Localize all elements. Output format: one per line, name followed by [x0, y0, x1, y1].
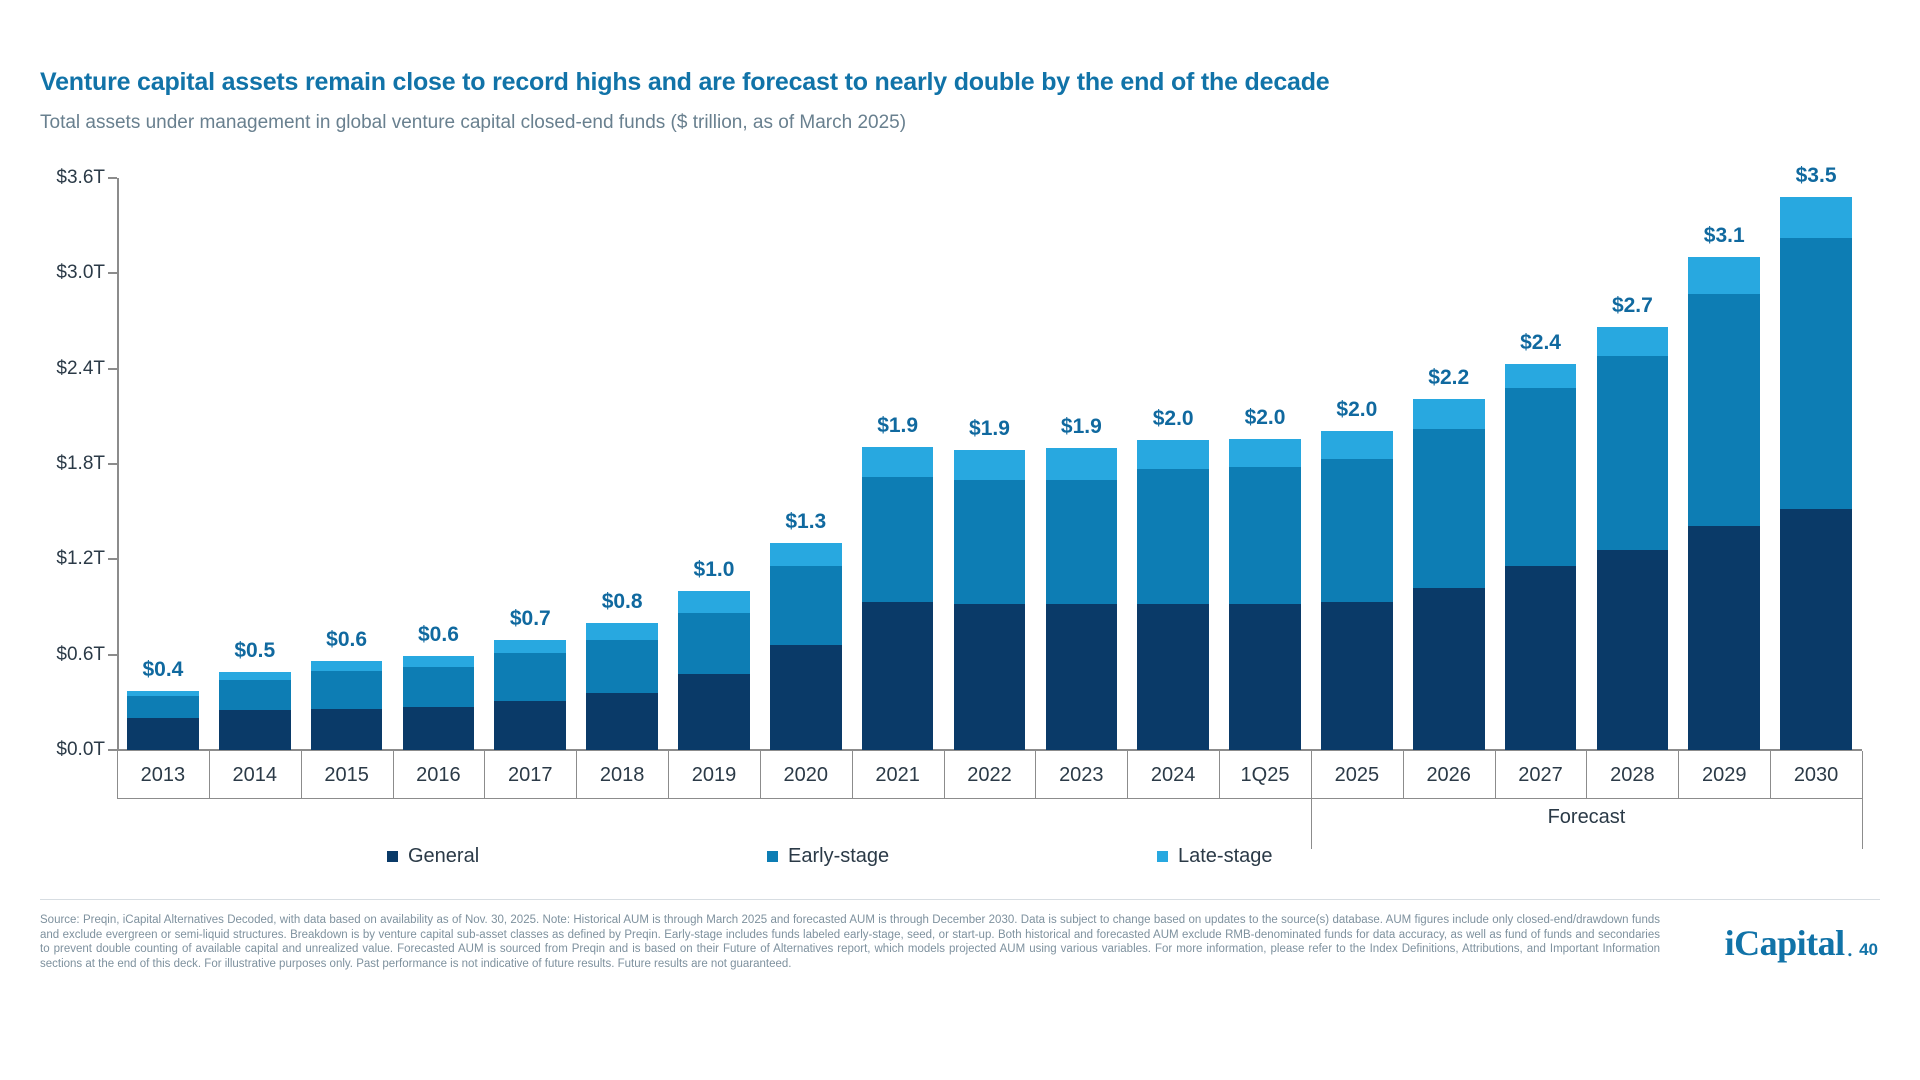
brand-dot: .	[1847, 935, 1854, 961]
category-separator	[209, 751, 210, 799]
bar-segment-late-stage[interactable]	[494, 640, 566, 653]
bar-segment-general[interactable]	[1137, 604, 1209, 750]
x-axis-category-2019: 2019	[668, 751, 760, 799]
category-separator	[1311, 751, 1312, 799]
bar-segment-late-stage[interactable]	[311, 661, 383, 671]
y-axis-tick-mark	[108, 177, 117, 179]
stacked-bar[interactable]	[1413, 399, 1485, 750]
category-separator	[393, 751, 394, 799]
x-axis-category-2018: 2018	[576, 751, 668, 799]
forecast-divider-right	[1862, 799, 1863, 849]
stacked-bar[interactable]	[1229, 439, 1301, 750]
bar-segment-general[interactable]	[494, 701, 566, 750]
legend-swatch-icon	[1157, 851, 1168, 862]
category-separator	[117, 751, 118, 799]
bar-series-area: $0.4$0.5$0.6$0.6$0.7$0.8$1.0$1.3$1.9$1.9…	[117, 178, 1862, 750]
category-separator	[1127, 751, 1128, 799]
category-separator	[1678, 751, 1679, 799]
legend-swatch-icon	[767, 851, 778, 862]
bar-segment-late-stage[interactable]	[1597, 327, 1669, 356]
bar-segment-general[interactable]	[770, 645, 842, 750]
y-axis-tick-mark	[108, 749, 117, 751]
x-axis-category-1Q25: 1Q25	[1219, 751, 1311, 799]
stacked-bar[interactable]	[1321, 431, 1393, 750]
bar-segment-early-stage[interactable]	[219, 680, 291, 710]
stacked-bar[interactable]	[862, 447, 934, 750]
page-title: Venture capital assets remain close to r…	[40, 68, 1330, 97]
bar-column[interactable]: $2.0	[1229, 178, 1301, 750]
x-axis-category-2020: 2020	[760, 751, 852, 799]
bar-segment-general[interactable]	[1413, 588, 1485, 750]
stacked-bar[interactable]	[586, 623, 658, 750]
category-separator	[1862, 751, 1863, 799]
bar-segment-early-stage[interactable]	[1137, 469, 1209, 604]
stacked-bar[interactable]	[494, 640, 566, 750]
stacked-bar[interactable]	[1597, 327, 1669, 750]
x-axis-category-2015: 2015	[301, 751, 393, 799]
forecast-label: Forecast	[1548, 806, 1626, 829]
bar-segment-early-stage[interactable]	[311, 671, 383, 709]
legend-item-late-stage[interactable]: Late-stage	[1157, 845, 1273, 868]
page-number: 40	[1859, 941, 1878, 961]
category-separator	[484, 751, 485, 799]
bar-segment-early-stage[interactable]	[1229, 467, 1301, 604]
bar-column[interactable]: $3.1	[1688, 178, 1760, 750]
stacked-bar[interactable]	[678, 591, 750, 750]
x-axis-category-2016: 2016	[393, 751, 485, 799]
bar-column[interactable]: $1.9	[862, 178, 934, 750]
stacked-bar[interactable]	[954, 450, 1026, 750]
category-separator	[1035, 751, 1036, 799]
bar-segment-early-stage[interactable]	[1321, 459, 1393, 602]
bar-segment-early-stage[interactable]	[494, 653, 566, 701]
bar-value-label: $0.6	[418, 623, 459, 647]
category-separator	[760, 751, 761, 799]
stacked-bar[interactable]	[1688, 257, 1760, 750]
y-axis-tick-mark	[108, 368, 117, 370]
bar-segment-late-stage[interactable]	[1505, 364, 1577, 388]
stacked-bar[interactable]	[1505, 364, 1577, 750]
category-separator	[1495, 751, 1496, 799]
legend-item-early-stage[interactable]: Early-stage	[767, 845, 889, 868]
bar-segment-early-stage[interactable]	[1413, 429, 1485, 588]
bar-segment-early-stage[interactable]	[954, 480, 1026, 604]
forecast-divider-left	[1311, 799, 1312, 849]
bar-segment-general[interactable]	[586, 693, 658, 750]
bar-segment-general[interactable]	[1229, 604, 1301, 750]
bar-value-label: $1.9	[877, 414, 918, 438]
bar-segment-late-stage[interactable]	[678, 591, 750, 613]
x-axis-category-2014: 2014	[209, 751, 301, 799]
bar-column[interactable]: $2.7	[1597, 178, 1669, 750]
bar-value-label: $0.6	[326, 628, 367, 652]
bar-segment-general[interactable]	[1046, 604, 1118, 750]
stacked-bar[interactable]	[311, 661, 383, 750]
bar-segment-late-stage[interactable]	[219, 672, 291, 680]
bar-segment-late-stage[interactable]	[1413, 399, 1485, 429]
source-note: Source: Preqin, iCapital Alternatives De…	[40, 913, 1660, 971]
bar-segment-early-stage[interactable]	[678, 613, 750, 673]
bar-segment-general[interactable]	[954, 604, 1026, 750]
bar-segment-early-stage[interactable]	[770, 566, 842, 645]
x-axis-category-2017: 2017	[484, 751, 576, 799]
bar-column[interactable]: $1.9	[954, 178, 1026, 750]
bar-value-label: $1.9	[969, 417, 1010, 441]
bar-segment-early-stage[interactable]	[127, 696, 199, 718]
y-axis-tick-mark	[108, 272, 117, 274]
bar-column[interactable]: $2.0	[1321, 178, 1393, 750]
bar-segment-late-stage[interactable]	[1137, 440, 1209, 469]
y-axis-tick-mark	[108, 654, 117, 656]
bar-value-label: $1.3	[785, 510, 826, 534]
x-axis-category-2026: 2026	[1403, 751, 1495, 799]
bar-value-label: $0.7	[510, 607, 551, 631]
legend-label: Late-stage	[1178, 845, 1273, 868]
bar-column[interactable]: $2.2	[1413, 178, 1485, 750]
bar-segment-general[interactable]	[1688, 526, 1760, 750]
icapital-logo: iCapital . 40	[1725, 925, 1878, 961]
page-subtitle: Total assets under management in global …	[40, 112, 906, 134]
bar-segment-early-stage[interactable]	[1505, 388, 1577, 566]
category-separator	[301, 751, 302, 799]
bar-value-label: $2.0	[1153, 407, 1194, 431]
bar-segment-late-stage[interactable]	[862, 447, 934, 477]
bar-column[interactable]: $3.5	[1780, 178, 1852, 750]
bar-value-label: $2.2	[1428, 366, 1469, 390]
stacked-bar[interactable]	[127, 691, 199, 750]
stacked-bar[interactable]	[403, 656, 475, 750]
bar-segment-early-stage[interactable]	[1780, 238, 1852, 508]
bar-segment-late-stage[interactable]	[586, 623, 658, 640]
bar-segment-late-stage[interactable]	[127, 691, 199, 696]
bar-column[interactable]: $0.8	[586, 178, 658, 750]
bar-value-label: $0.5	[234, 639, 275, 663]
bar-segment-early-stage[interactable]	[586, 640, 658, 692]
bar-segment-late-stage[interactable]	[1780, 197, 1852, 238]
stacked-bar[interactable]	[219, 672, 291, 750]
bar-column[interactable]: $0.7	[494, 178, 566, 750]
bar-segment-late-stage[interactable]	[770, 543, 842, 565]
x-axis-category-2030: 2030	[1770, 751, 1862, 799]
x-axis-category-band: 2013201420152016201720182019202020212022…	[117, 751, 1862, 799]
bar-segment-late-stage[interactable]	[1046, 448, 1118, 480]
bar-column[interactable]: $0.6	[311, 178, 383, 750]
bar-value-label: $3.1	[1704, 224, 1745, 248]
x-axis-category-2027: 2027	[1495, 751, 1587, 799]
bar-column[interactable]: $0.6	[403, 178, 475, 750]
x-axis-category-2022: 2022	[944, 751, 1036, 799]
y-axis-tick-mark	[108, 463, 117, 465]
bar-value-label: $0.8	[602, 590, 643, 614]
bar-column[interactable]: $1.9	[1046, 178, 1118, 750]
bar-value-label: $2.0	[1336, 398, 1377, 422]
x-axis-category-2029: 2029	[1678, 751, 1770, 799]
bar-column[interactable]: $0.4	[127, 178, 199, 750]
category-separator	[1586, 751, 1587, 799]
bar-segment-early-stage[interactable]	[1597, 356, 1669, 550]
bar-column[interactable]: $2.4	[1505, 178, 1577, 750]
x-axis-category-2028: 2028	[1586, 751, 1678, 799]
bar-segment-general[interactable]	[1321, 602, 1393, 750]
bar-value-label: $0.4	[142, 658, 183, 682]
bar-value-label: $2.4	[1520, 331, 1561, 355]
bar-segment-general[interactable]	[311, 709, 383, 750]
bar-segment-general[interactable]	[219, 710, 291, 750]
bar-value-label: $3.5	[1796, 164, 1837, 188]
bar-value-label: $2.7	[1612, 294, 1653, 318]
legend-label: General	[408, 845, 479, 868]
bar-segment-late-stage[interactable]	[954, 450, 1026, 480]
bar-value-label: $1.9	[1061, 415, 1102, 439]
y-axis-tick-mark	[108, 558, 117, 560]
bar-segment-general[interactable]	[1597, 550, 1669, 750]
category-separator	[1219, 751, 1220, 799]
bar-segment-early-stage[interactable]	[1046, 480, 1118, 604]
stacked-bar[interactable]	[1137, 440, 1209, 750]
bar-column[interactable]: $0.5	[219, 178, 291, 750]
x-axis-category-2013: 2013	[117, 751, 209, 799]
bar-segment-late-stage[interactable]	[1229, 439, 1301, 468]
x-axis-category-2025: 2025	[1311, 751, 1403, 799]
bar-column[interactable]: $1.3	[770, 178, 842, 750]
category-separator	[668, 751, 669, 799]
category-separator	[1770, 751, 1771, 799]
bar-segment-general[interactable]	[678, 674, 750, 750]
bar-segment-general[interactable]	[1505, 566, 1577, 750]
bar-segment-early-stage[interactable]	[403, 667, 475, 707]
footer-divider	[40, 899, 1880, 900]
category-separator	[576, 751, 577, 799]
stacked-bar[interactable]	[1046, 448, 1118, 750]
chart-legend: GeneralEarly-stageLate-stage	[117, 845, 1862, 879]
legend-label: Early-stage	[788, 845, 889, 868]
bar-segment-late-stage[interactable]	[1321, 431, 1393, 460]
category-separator	[1403, 751, 1404, 799]
bar-segment-early-stage[interactable]	[1688, 294, 1760, 526]
bar-segment-general[interactable]	[1780, 509, 1852, 751]
legend-swatch-icon	[387, 851, 398, 862]
brand-name: iCapital	[1725, 925, 1845, 961]
bar-segment-general[interactable]	[127, 718, 199, 750]
category-separator	[944, 751, 945, 799]
stacked-bar[interactable]	[770, 543, 842, 750]
x-axis-category-2021: 2021	[852, 751, 944, 799]
category-separator	[852, 751, 853, 799]
slide-page: Venture capital assets remain close to r…	[0, 0, 1920, 1080]
bar-column[interactable]: $1.0	[678, 178, 750, 750]
x-axis-category-2024: 2024	[1127, 751, 1219, 799]
bar-segment-early-stage[interactable]	[862, 477, 934, 603]
bar-value-label: $2.0	[1245, 406, 1286, 430]
bar-segment-late-stage[interactable]	[403, 656, 475, 667]
bar-segment-late-stage[interactable]	[1688, 257, 1760, 294]
legend-item-general[interactable]: General	[387, 845, 479, 868]
bar-segment-general[interactable]	[862, 602, 934, 750]
bar-value-label: $1.0	[694, 558, 735, 582]
x-axis-category-2023: 2023	[1035, 751, 1127, 799]
stacked-bar[interactable]	[1780, 197, 1852, 750]
bar-segment-general[interactable]	[403, 707, 475, 750]
bar-column[interactable]: $2.0	[1137, 178, 1209, 750]
